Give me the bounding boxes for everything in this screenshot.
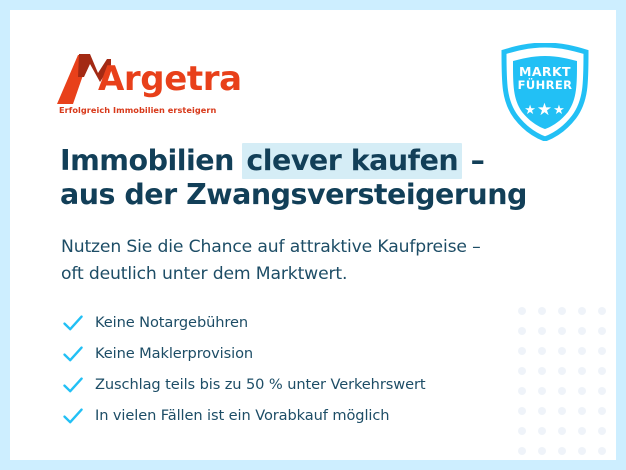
badge-line2: FÜHRER <box>500 79 590 91</box>
argetra-logo[interactable]: Argetra Erfolgreich Immobilien ersteiger… <box>57 48 252 126</box>
dot <box>578 407 586 415</box>
headline-text-after: – <box>461 144 484 177</box>
dot <box>558 327 566 335</box>
badge-stars: ★★★ <box>500 101 590 118</box>
dot <box>518 307 526 315</box>
dot <box>538 387 546 395</box>
shield-badge-icon <box>500 43 590 141</box>
dot <box>578 427 586 435</box>
dot <box>538 307 546 315</box>
dot <box>538 347 546 355</box>
dot <box>578 347 586 355</box>
feature-list: Keine NotargebührenKeine Maklerprovision… <box>61 307 501 431</box>
logo-tagline: Erfolgreich Immobilien ersteigern <box>59 105 216 115</box>
dot <box>518 347 526 355</box>
market-leader-badge: MARKT FÜHRER ★★★ <box>500 43 590 141</box>
feature-label: Keine Maklerprovision <box>95 345 253 362</box>
dot <box>558 407 566 415</box>
subtitle-line-1: Nutzen Sie die Chance auf attraktive Kau… <box>61 234 561 261</box>
page-title: Immobilien clever kaufen – aus der Zwang… <box>60 144 540 212</box>
dot <box>558 427 566 435</box>
feature-label: Zuschlag teils bis zu 50 % unter Verkehr… <box>95 376 425 393</box>
dot <box>578 447 586 455</box>
dot <box>598 387 606 395</box>
dot <box>598 407 606 415</box>
feature-item-0: Keine Notargebühren <box>61 307 501 338</box>
dot <box>598 447 606 455</box>
dot-grid-decoration <box>518 307 616 460</box>
dot <box>598 307 606 315</box>
dot <box>558 367 566 375</box>
dot <box>558 307 566 315</box>
badge-text: MARKT FÜHRER <box>500 65 590 91</box>
dot <box>518 367 526 375</box>
dot <box>518 387 526 395</box>
dot <box>598 427 606 435</box>
star-icon-center: ★ <box>537 100 553 119</box>
dot <box>558 387 566 395</box>
subtitle: Nutzen Sie die Chance auf attraktive Kau… <box>61 234 561 288</box>
dot <box>538 427 546 435</box>
check-icon <box>61 404 85 428</box>
check-icon <box>61 311 85 335</box>
headline-line-2: aus der Zwangsversteigerung <box>60 178 540 212</box>
feature-item-1: Keine Maklerprovision <box>61 338 501 369</box>
dot <box>538 447 546 455</box>
headline-text-before: Immobilien <box>60 144 243 177</box>
dot <box>538 367 546 375</box>
badge-line1: MARKT <box>500 65 590 79</box>
dot <box>578 387 586 395</box>
dot <box>518 447 526 455</box>
dot <box>578 327 586 335</box>
star-icon-left: ★ <box>524 102 537 117</box>
headline-highlight: clever kaufen <box>242 143 462 179</box>
dot <box>578 307 586 315</box>
dot <box>518 407 526 415</box>
dot <box>598 367 606 375</box>
subtitle-line-2: oft deutlich unter dem Marktwert. <box>61 261 561 288</box>
star-icon-right: ★ <box>553 102 566 117</box>
dot <box>518 427 526 435</box>
promo-banner: Argetra Erfolgreich Immobilien ersteiger… <box>0 0 626 470</box>
feature-item-3: In vielen Fällen ist ein Vorabkauf mögli… <box>61 400 501 431</box>
headline-line-1: Immobilien clever kaufen – <box>60 144 540 178</box>
dot <box>598 347 606 355</box>
check-icon <box>61 342 85 366</box>
promo-card: Argetra Erfolgreich Immobilien ersteiger… <box>10 10 616 460</box>
dot <box>538 327 546 335</box>
feature-label: In vielen Fällen ist ein Vorabkauf mögli… <box>95 407 389 424</box>
dot <box>598 327 606 335</box>
dot <box>518 327 526 335</box>
dot <box>538 407 546 415</box>
check-icon <box>61 373 85 397</box>
feature-item-2: Zuschlag teils bis zu 50 % unter Verkehr… <box>61 369 501 400</box>
logo-wordmark: Argetra <box>98 62 242 96</box>
dot <box>578 367 586 375</box>
dot <box>558 447 566 455</box>
feature-label: Keine Notargebühren <box>95 314 248 331</box>
dot <box>558 347 566 355</box>
